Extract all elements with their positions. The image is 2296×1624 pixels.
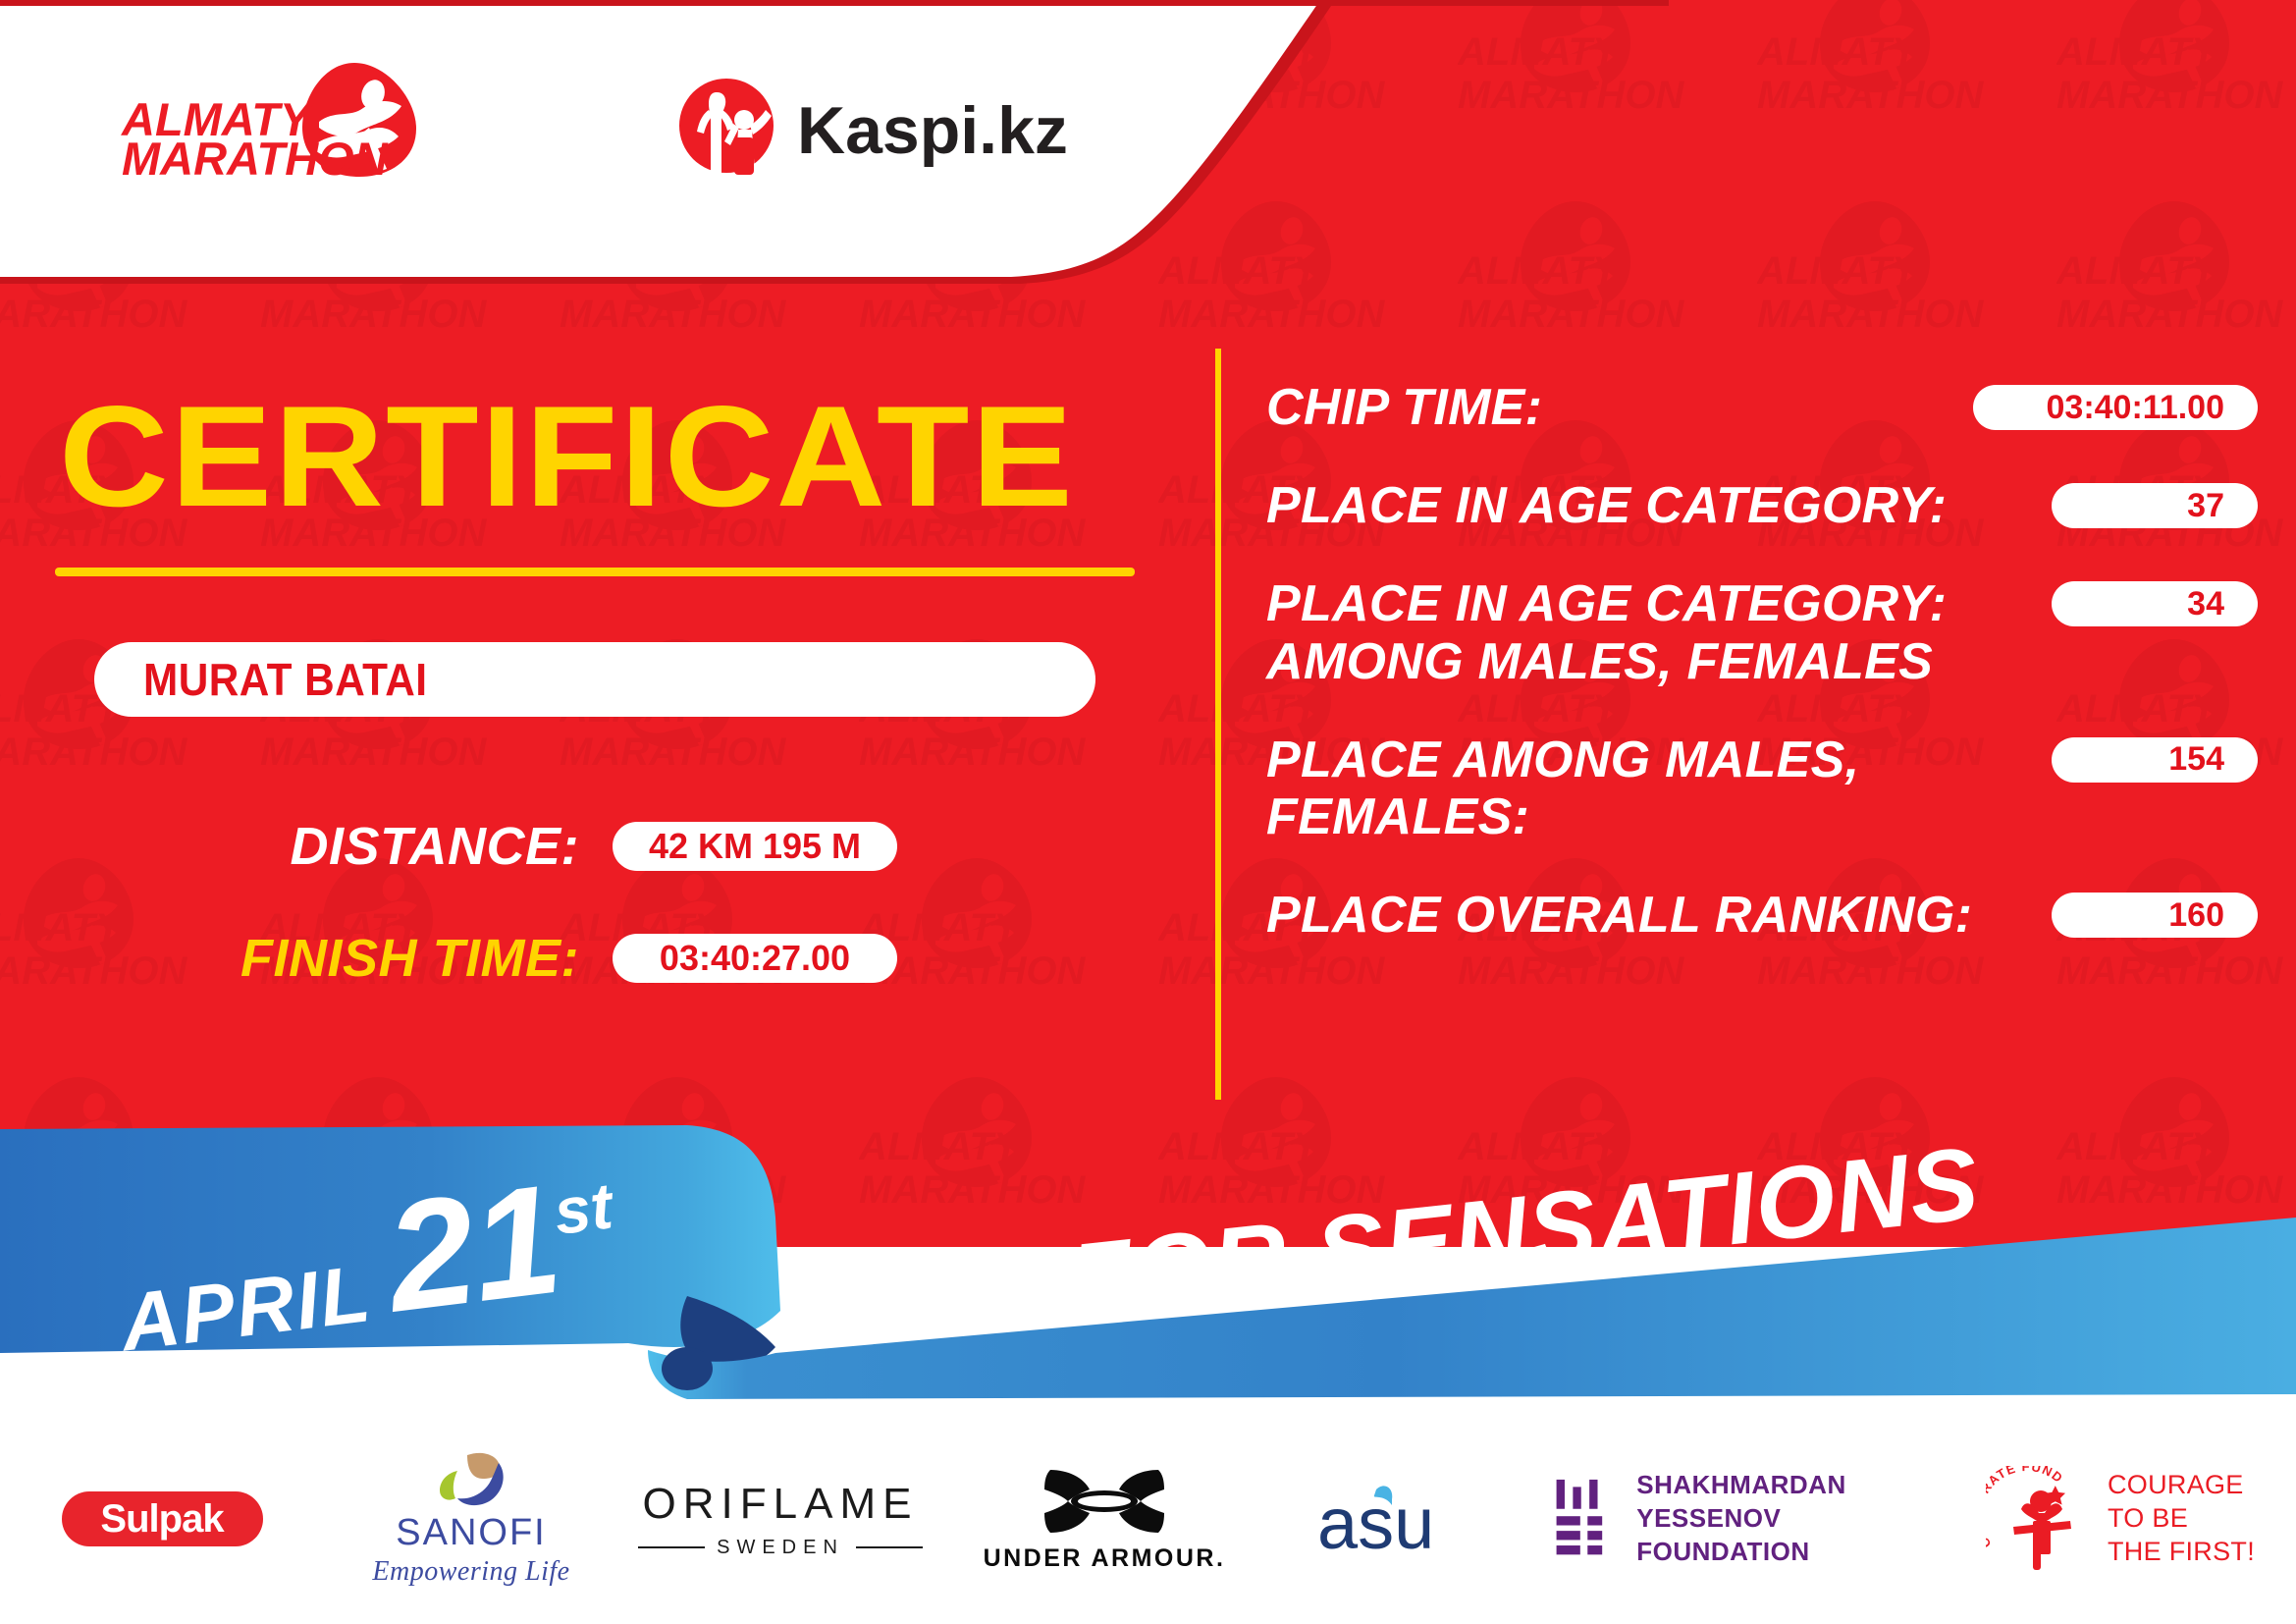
place-overall-value: 160: [2052, 893, 2258, 938]
stat-row-finish-time: FINISH TIME: 03:40:27.00: [0, 917, 1168, 1000]
label-line-2: AMONG MALES, FEMALES: [1266, 633, 1933, 690]
sanofi-wordmark: SANOFI: [396, 1512, 546, 1554]
place-among-gender-label: PLACE AMONG MALES, FEMALES:: [1266, 731, 2052, 845]
certificate-page: ALMATY MARATHON ALMATY MARATHON: [0, 0, 2296, 1624]
page-title: CERTIFICATE: [59, 385, 1075, 528]
sponsor-logo-courage-fund: CORPORATE FUND COURAGE TO BE THE FIRST!: [1973, 1435, 2268, 1602]
place-overall-label: PLACE OVERALL RANKING:: [1266, 887, 2052, 944]
column-divider: [1215, 349, 1221, 1100]
finish-time-value: 03:40:27.00: [613, 934, 897, 983]
yessenov-line-1: SHAKHMARDAN YESSENOV: [1636, 1469, 1973, 1536]
courage-runner-icon: CORPORATE FUND: [1986, 1466, 2094, 1572]
sponsor-logo-yessenov-foundation: SHAKHMARDAN YESSENOV FOUNDATION: [1551, 1435, 1973, 1602]
right-stats-list: CHIP TIME: 03:40:11.00 PLACE IN AGE CATE…: [1266, 379, 2258, 986]
label-line-1: PLACE IN AGE CATEGORY:: [1266, 575, 1947, 632]
almaty-marathon-logo: ALMATY MARATHON: [116, 61, 440, 179]
place-age-category-gender-value: 34: [2052, 581, 2258, 626]
kaspi-logo: Kaspi.kz: [677, 77, 1090, 175]
sanofi-tagline: Empowering Life: [372, 1556, 569, 1588]
sponsor-logo-sulpak: Sulpak: [0, 1435, 324, 1602]
sponsor-logo-sanofi: SANOFI Empowering Life: [324, 1435, 618, 1602]
oriflame-wordmark: ORIFLAME: [643, 1480, 919, 1529]
oriflame-rule-right: [856, 1546, 923, 1548]
ribbon-day: 21: [378, 1153, 568, 1345]
left-stats-list: DISTANCE: 42 KM 195 M FINISH TIME: 03:40…: [0, 805, 1168, 1029]
athlete-name-field: MURAT BATAI: [94, 642, 1095, 717]
yessenov-line-2: FOUNDATION: [1636, 1536, 1973, 1569]
kaspi-family-icon: [679, 79, 774, 175]
place-age-category-label: PLACE IN AGE CATEGORY:: [1266, 477, 2052, 534]
sponsor-logo-under-armour: UNDER ARMOUR.: [942, 1435, 1266, 1602]
ribbon-month: APRIL: [116, 1249, 376, 1369]
almaty-logo-line2: MARATHON: [122, 133, 389, 179]
sanofi-mark-icon: [426, 1451, 516, 1508]
sponsor-logo-oriflame: ORIFLAME SWEDEN: [618, 1435, 942, 1602]
kaspi-wordmark: Kaspi.kz: [797, 93, 1068, 168]
place-among-gender-value: 154: [2052, 737, 2258, 783]
asu-logo-icon: asu: [1315, 1474, 1502, 1564]
courage-line-3: THE FIRST!: [2108, 1536, 2255, 1569]
courage-line-2: TO BE: [2108, 1502, 2255, 1536]
yessenov-bars-icon: [1551, 1475, 1615, 1563]
under-armour-ua-icon: [1031, 1466, 1178, 1537]
distance-label: DISTANCE:: [0, 816, 613, 877]
label-line-1: PLACE AMONG MALES,: [1266, 731, 1859, 788]
label-line-2: FEMALES:: [1266, 788, 1529, 845]
place-age-category-gender-label: PLACE IN AGE CATEGORY: AMONG MALES, FEMA…: [1266, 575, 2052, 689]
oriflame-subtitle: SWEDEN: [717, 1537, 844, 1559]
stat-row-place-overall: PLACE OVERALL RANKING: 160: [1266, 887, 2258, 944]
asu-wordmark: asu: [1317, 1483, 1434, 1564]
sponsor-strip: Sulpak SANOFI Empowering Life ORIFLAME S…: [0, 1426, 2296, 1612]
courage-line-1: COURAGE: [2108, 1469, 2255, 1502]
title-divider-rule: [55, 568, 1135, 576]
stat-row-chip-time: CHIP TIME: 03:40:11.00: [1266, 379, 2258, 436]
sponsor-logo-asu: asu: [1266, 1435, 1551, 1602]
distance-value: 42 KM 195 M: [613, 822, 897, 871]
header-top-accent-bar: [0, 0, 1669, 6]
sulpak-wordmark: Sulpak: [100, 1497, 223, 1542]
stat-row-distance: DISTANCE: 42 KM 195 M: [0, 805, 1168, 888]
finish-time-label: FINISH TIME:: [0, 928, 613, 989]
athlete-name-value: MURAT BATAI: [143, 653, 427, 706]
ribbon-ordinal: st: [550, 1168, 615, 1248]
sulpak-pill: Sulpak: [62, 1491, 263, 1546]
stat-row-place-age-category-gender: PLACE IN AGE CATEGORY: AMONG MALES, FEMA…: [1266, 575, 2258, 689]
chip-time-value: 03:40:11.00: [1973, 385, 2258, 430]
chip-time-label: CHIP TIME:: [1266, 379, 1973, 436]
stat-row-place-among-gender: PLACE AMONG MALES, FEMALES: 154: [1266, 731, 2258, 845]
under-armour-wordmark: UNDER ARMOUR.: [984, 1544, 1226, 1573]
oriflame-rule-left: [638, 1546, 705, 1548]
place-age-category-value: 37: [2052, 483, 2258, 528]
stat-row-place-age-category: PLACE IN AGE CATEGORY: 37: [1266, 477, 2258, 534]
